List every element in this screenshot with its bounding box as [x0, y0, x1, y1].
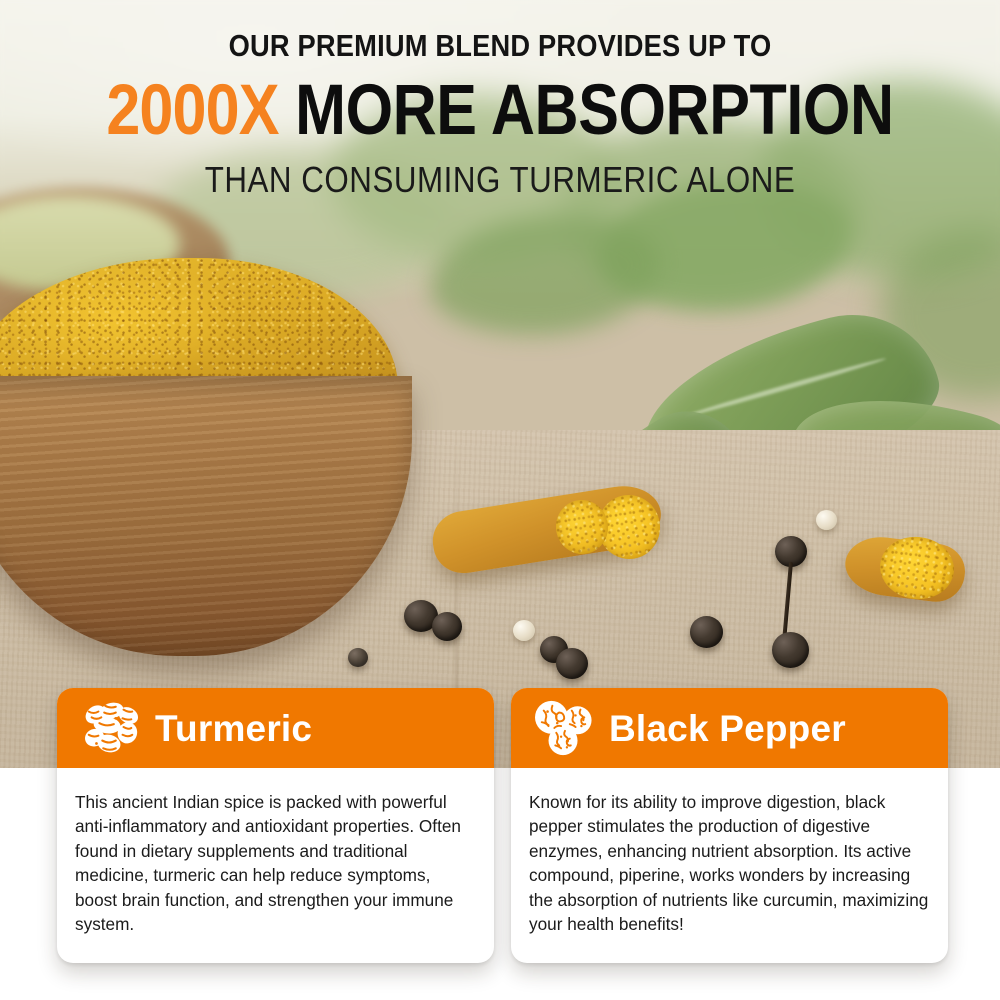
headline-line-2-rest: MORE ABSORPTION [279, 71, 894, 150]
card-header-black-pepper: Black Pepper [511, 688, 948, 768]
card-body-turmeric: This ancient Indian spice is packed with… [57, 768, 494, 963]
card-header-turmeric: Turmeric [57, 688, 494, 768]
absorption-multiplier: 2000X [106, 71, 278, 150]
card-text-black-pepper: Known for its ability to improve digesti… [529, 790, 930, 937]
card-body-black-pepper: Known for its ability to improve digesti… [511, 768, 948, 963]
product-infographic: OUR PREMIUM BLEND PROVIDES UP TO 2000X M… [0, 0, 1000, 1000]
card-title-turmeric: Turmeric [155, 710, 312, 747]
headline-block: OUR PREMIUM BLEND PROVIDES UP TO 2000X M… [0, 0, 1000, 198]
ingredient-card-turmeric[interactable]: Turmeric This ancient Indian spice is pa… [57, 688, 494, 963]
peppercorns-icon [533, 699, 595, 757]
headline-line-1: OUR PREMIUM BLEND PROVIDES UP TO [60, 30, 940, 61]
turmeric-bowl [0, 250, 430, 670]
headline-line-3: THAN CONSUMING TURMERIC ALONE [65, 162, 935, 198]
turmeric-root-icon [79, 699, 141, 757]
card-title-black-pepper: Black Pepper [609, 710, 846, 747]
headline-line-2: 2000X MORE ABSORPTION [70, 75, 930, 146]
ingredient-card-black-pepper[interactable]: Black Pepper Known for its ability to im… [511, 688, 948, 963]
card-text-turmeric: This ancient Indian spice is packed with… [75, 790, 476, 937]
